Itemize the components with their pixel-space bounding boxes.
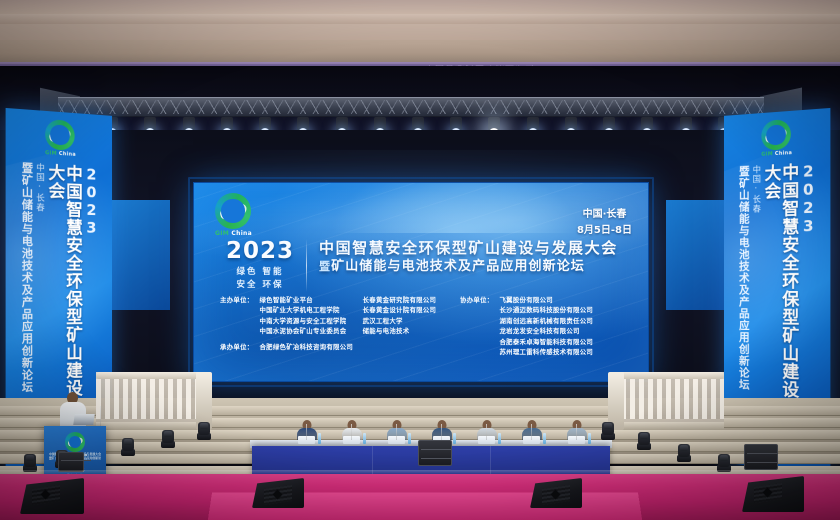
water-bottle — [318, 433, 321, 444]
coorganizer-name: 湖南创远高新机械有限责任公司 — [499, 316, 593, 326]
table-microphone — [396, 424, 397, 440]
coorganizer-label: 协办单位： — [460, 295, 493, 357]
title-amp-char: 暨 — [319, 260, 331, 273]
host-organization: 长春黄金研究院有限公司 — [363, 295, 452, 305]
moving-head-light — [676, 442, 692, 462]
logo-text-cn: China — [59, 151, 76, 158]
organizers-left: 主办单位： 绿色智能矿业平台中国矿业大学机电工程学院中南大学资源与安全工程学院中… — [220, 295, 452, 357]
podium-microphone — [100, 406, 101, 428]
event-slogan: 绿色 智能 安全 环保 — [222, 266, 298, 292]
main-led-screen: GIM China 中国·长春 8月5日-8日 2023 绿色 智能 安全 环保… — [193, 182, 649, 382]
title-sub-text: 矿山储能与电池技术及产品应用创新论坛 — [331, 259, 585, 274]
equipment-case — [58, 452, 84, 472]
logo-text-en: GIM — [45, 150, 57, 157]
moving-head-light — [636, 430, 652, 450]
coorganizer-list: 飞翼股份有限公司长沙通迈数码科技股份有限公司湖南创远高新机械有限责任公司龙岩龙发… — [499, 295, 593, 357]
water-bottle — [588, 433, 591, 444]
moving-head-light — [160, 428, 176, 448]
stage-monitor-wedge — [20, 478, 84, 514]
slogan-line-1: 绿色 智能 — [222, 266, 298, 279]
lighting-truss — [58, 97, 764, 117]
logo-text-en: GIM — [215, 230, 229, 237]
ceiling-band — [0, 14, 840, 24]
coorganizer-name: 龙岩龙发安全科技有限公司 — [499, 326, 593, 336]
water-bottle — [453, 433, 456, 444]
podium-laptop — [73, 414, 95, 425]
host-column-b: 长春黄金研究院有限公司长春黄金设计院有限公司武汉工程大学储能与电池技术 — [363, 295, 452, 337]
host-organization: 武汉工程大学 — [363, 316, 452, 326]
undertaker-name: 合肥绿色矿冶科技咨询有限公司 — [259, 342, 353, 352]
host-organization: 长春黄金设计院有限公司 — [363, 305, 452, 315]
host-organization: 中南大学资源与安全工程学院 — [259, 316, 356, 326]
organizers-block: 主办单位： 绿色智能矿业平台中国矿业大学机电工程学院中南大学资源与安全工程学院中… — [220, 295, 632, 357]
title-divider — [306, 239, 307, 292]
coorganizer-name: 合肥泰禾卓海智能科技有限公司 — [499, 337, 593, 347]
table-microphone — [576, 424, 577, 440]
stone-balustrade-right — [612, 372, 724, 430]
table-microphone — [351, 424, 352, 440]
logo-text-en: GIM — [761, 151, 773, 158]
water-bottle — [498, 433, 501, 444]
moving-head-light — [600, 420, 616, 440]
stage-monitor-wedge — [252, 478, 304, 508]
moving-head-light — [22, 452, 38, 472]
host-column-a: 绿色智能矿业平台中国矿业大学机电工程学院中南大学资源与安全工程学院中国水泥协会矿… — [259, 295, 356, 337]
undertaker-row: 承办单位： 合肥绿色矿冶科技咨询有限公司 — [220, 342, 452, 352]
moving-head-light — [120, 436, 136, 456]
truss-lattice — [58, 100, 764, 114]
host-organization: 中国水泥协会矿山专业委员会 — [259, 326, 356, 336]
stone-balustrade-left — [96, 372, 208, 430]
gim-china-logo: GIM China — [208, 193, 258, 239]
water-bottle — [408, 433, 411, 444]
event-location-block: 中国·长春 8月5日-8日 — [577, 207, 632, 238]
gim-china-logo: GIM China — [755, 118, 798, 160]
conference-stage-photo: 中国智慧安全环保型矿山 GIM China 2023 中国智慧安全环保型矿山建设… — [0, 0, 840, 520]
title-column: 中国智慧安全环保型矿山建设与发展大会 暨矿山储能与电池技术及产品应用创新论坛 — [315, 239, 626, 292]
screen-title-block: 2023 绿色 智能 安全 环保 中国智慧安全环保型矿山建设与发展大会 暨矿山储… — [222, 239, 626, 292]
equipment-case — [744, 444, 778, 470]
stage-monitor-wedge — [742, 476, 804, 512]
logo-text-cn: China — [231, 230, 252, 237]
undertaker-label: 承办单位： — [220, 342, 253, 352]
event-title-main: 中国智慧安全环保型矿山建设与发展大会 — [319, 239, 626, 257]
coorganizer-name: 长沙通迈数码科技股份有限公司 — [499, 305, 593, 315]
event-title-sub: 暨矿山储能与电池技术及产品应用创新论坛 — [319, 259, 626, 276]
water-bottle — [363, 433, 366, 444]
stage-monitor-wedge — [530, 478, 582, 508]
screen-top-glow — [330, 182, 580, 233]
equipment-case — [418, 440, 452, 466]
host-row: 主办单位： 绿色智能矿业平台中国矿业大学机电工程学院中南大学资源与安全工程学院中… — [220, 295, 452, 337]
logo-text-cn: China — [775, 150, 792, 157]
event-location: 中国·长春 — [577, 207, 632, 223]
side-screen-right — [666, 200, 724, 310]
event-dates: 8月5日-8日 — [577, 223, 632, 239]
table-microphone — [306, 424, 307, 440]
slogan-line-2: 安全 环保 — [222, 279, 298, 292]
table-microphone — [531, 424, 532, 440]
host-organization: 绿色智能矿业平台 — [259, 295, 356, 305]
water-bottle — [543, 433, 546, 444]
host-organization: 储能与电池技术 — [363, 326, 452, 336]
coorganizer-name: 苏州理工雷科传感技术有限公司 — [499, 347, 593, 357]
organizers-right: 协办单位： 飞翼股份有限公司长沙通迈数码科技股份有限公司湖南创远高新机械有限责任… — [460, 295, 632, 357]
host-organization: 中国矿业大学机电工程学院 — [259, 305, 356, 315]
gim-china-logo: GIM China — [38, 118, 81, 160]
moving-head-light — [196, 420, 212, 440]
year-column: 2023 绿色 智能 安全 环保 — [222, 239, 298, 292]
table-microphone — [486, 424, 487, 440]
coorganizer-name: 飞翼股份有限公司 — [499, 295, 593, 305]
side-screen-left — [112, 200, 170, 310]
host-label: 主办单位： — [220, 295, 253, 337]
event-year: 2023 — [222, 240, 298, 263]
moving-head-light — [716, 452, 732, 472]
table-microphone — [441, 424, 442, 440]
coorganizer-row: 协办单位： 飞翼股份有限公司长沙通迈数码科技股份有限公司湖南创远高新机械有限责任… — [460, 295, 632, 357]
